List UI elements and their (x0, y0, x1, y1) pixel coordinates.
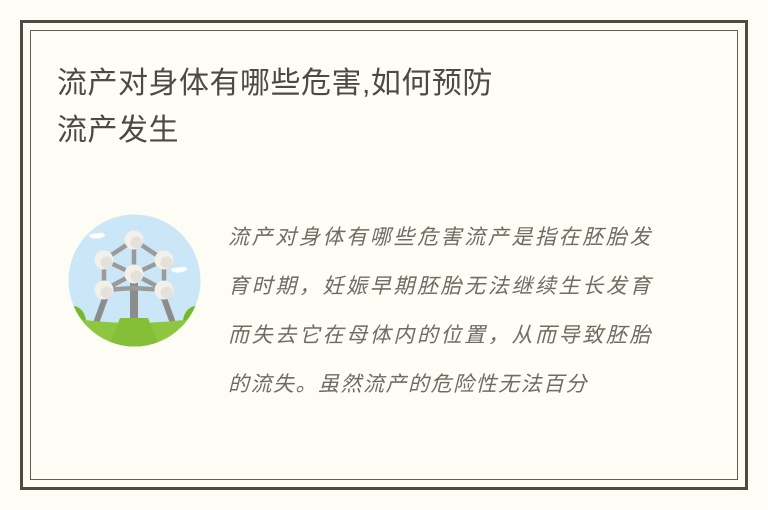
article-body-text: 流产对身体有哪些危害流产是指在胚胎发育时期，妊娠早期胚胎无法继续生长发育而失去它… (228, 213, 652, 409)
atomium-monument-illustration (68, 208, 201, 353)
illustration-svg (68, 208, 201, 353)
cloud-right-puff-icon (179, 267, 187, 271)
page-title: 流产对身体有哪些危害,如何预防 流产发生 (57, 60, 657, 154)
cloud-left-puff-icon (97, 233, 105, 237)
corner-watermark: ··· (734, 488, 746, 498)
article-card: 流产对身体有哪些危害,如何预防 流产发生 流产对身体有哪些危害流产是指在胚胎发育… (0, 0, 768, 510)
grass-hill-left (68, 306, 86, 353)
grass-hill-right (183, 306, 201, 353)
